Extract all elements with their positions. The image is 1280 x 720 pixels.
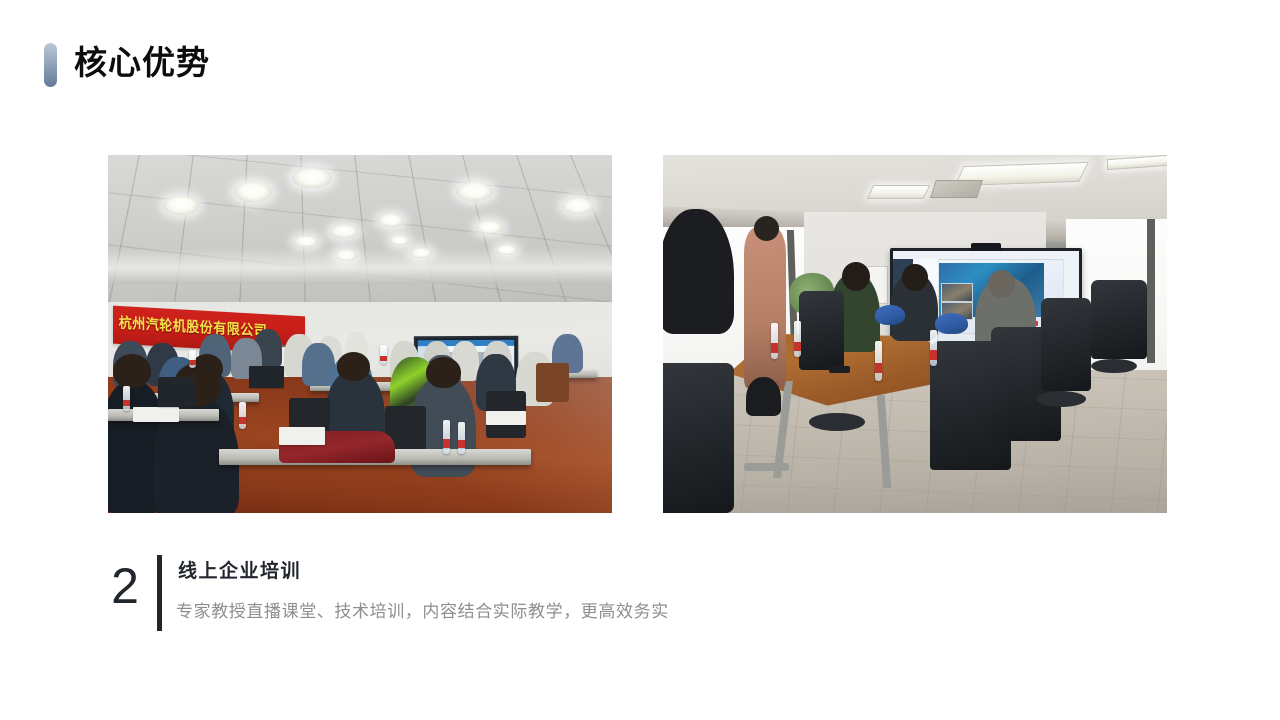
attendee-head [842,262,870,291]
fluorescent-light [866,185,930,199]
ceiling-light [410,248,431,258]
ceiling-soffit [108,248,612,284]
page-title: 核心优势 [74,40,210,86]
ceiling-light [390,236,409,245]
ceiling-light [496,245,517,255]
online-meeting-photo [663,155,1167,513]
water-bottle [123,386,130,411]
notebook [279,427,324,445]
attendee-head [902,264,927,291]
ceiling-light [234,182,272,202]
table-leg [744,463,789,472]
water-bottle [771,323,778,359]
water-bottle [380,345,387,365]
caption-subtitle: 专家教授直播课堂、技术培训，内容结合实际教学，更高效务实 [176,598,669,626]
office-chair [1091,280,1146,359]
laptop [249,366,284,387]
person-standing [663,209,734,334]
ceiling-light [294,236,317,247]
caption-heading: 线上企业培训 [178,558,301,586]
ceiling-light [378,214,404,227]
attendee-head [426,357,461,387]
floor-tiles [663,370,1167,513]
water-bottle [930,330,937,366]
presenter-head [754,216,779,241]
water-bottle [458,422,465,454]
notebook [486,411,526,425]
water-bottle [794,321,801,357]
slide-canvas: 核心优势 杭州汽轮机股份有限公司 [0,0,1280,720]
chair [536,363,569,402]
person-standing [746,377,781,416]
window-mullion [1147,219,1155,362]
water-bottle [189,350,196,368]
title-bullet-icon [44,43,57,87]
ceiling-light [335,250,357,261]
safety-helmet [935,313,968,334]
laptop [158,384,196,407]
attendee-head [113,354,151,388]
ceiling-light [163,196,198,215]
office-chair [1041,298,1091,391]
phone [829,366,850,373]
office-chair [663,363,734,513]
safety-helmet [875,305,905,325]
water-bottle [443,420,450,454]
display-camera-icon [971,243,1001,251]
classroom-training-photo: 杭州汽轮机股份有限公司 [108,155,612,513]
display-thumbnail [941,283,973,303]
caption-divider [157,555,162,631]
ceiling-light [456,182,493,201]
caption-number: 2 [100,552,150,620]
slide-header: 核心优势 [0,0,1280,120]
person-presenter [744,227,787,388]
water-bottle [875,341,882,380]
chair-base [809,413,864,431]
attendee-head [337,352,370,381]
air-vent [930,180,983,198]
water-bottle [239,402,246,429]
notebook [133,407,178,422]
caption-block: 2 线上企业培训 专家教授直播课堂、技术培训，内容结合实际教学，更高效务实 [100,548,800,638]
office-chair [799,291,844,370]
